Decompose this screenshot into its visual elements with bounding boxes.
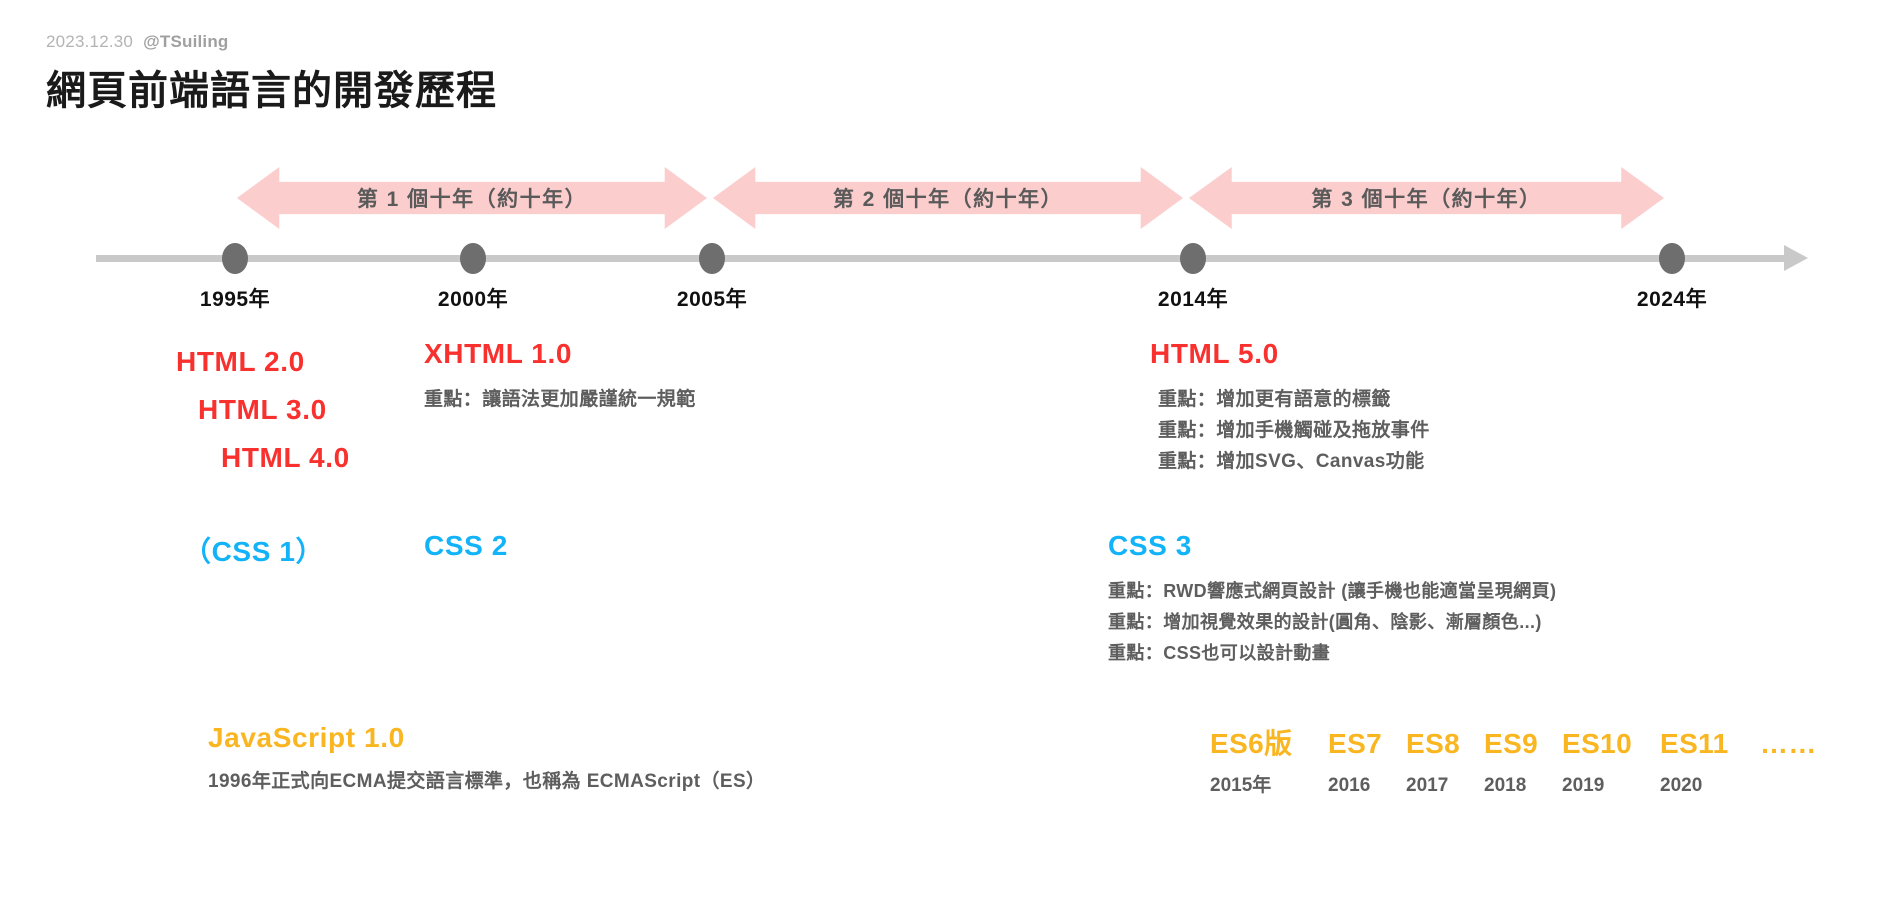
es-year-label: 2018 <box>1484 775 1562 797</box>
timeline-year-label: 2024年 <box>1637 283 1707 313</box>
es-version-label: …… <box>1760 728 1850 760</box>
es-version-label: ES6版 <box>1210 722 1328 762</box>
meta-line: 2023.12.30@TSuiling <box>46 32 497 52</box>
javascript-block: JavaScript 1.0 1996年正式向ECMA提交語言標準，也稱為 EC… <box>208 722 765 797</box>
html5-note: 重點：增加手機觸碰及拖放事件 <box>1150 415 1430 446</box>
timeline-year-label: 2014年 <box>1158 283 1228 313</box>
html5-note: 重點：增加SVG、Canvas功能 <box>1150 446 1430 477</box>
es-version-label: ES10 <box>1562 728 1660 760</box>
publish-date: 2023.12.30 <box>46 32 133 51</box>
css1-title: （CSS 1） <box>183 530 324 570</box>
es-year-label: 2020 <box>1660 775 1760 797</box>
timeline-axis-line <box>96 255 1786 262</box>
css3-note: 重點：CSS也可以設計動畫 <box>1108 638 1556 669</box>
timeline-dot[interactable] <box>222 243 248 274</box>
es-year-label: 2016 <box>1328 775 1406 797</box>
css2-block: CSS 2 <box>424 530 508 562</box>
css3-title: CSS 3 <box>1108 530 1556 562</box>
es-versions-block: ES6版ES7ES8ES9ES10ES11…… 2015年20162017201… <box>1210 722 1850 797</box>
es-version-label: ES7 <box>1328 728 1406 760</box>
decade-arrow-1: 第 1 個十年（約十年） <box>237 167 707 229</box>
css2-title: CSS 2 <box>424 530 508 562</box>
timeline-dot[interactable] <box>1180 243 1206 274</box>
es-version-label: ES11 <box>1660 728 1760 760</box>
css3-note: 重點：RWD響應式網頁設計 (讓手機也能適當呈現網頁) <box>1108 576 1556 607</box>
html5-block: HTML 5.0 重點：增加更有語意的標籤 重點：增加手機觸碰及拖放事件 重點：… <box>1150 338 1430 477</box>
javascript-note: 1996年正式向ECMA提交語言標準，也稱為 ECMAScript（ES） <box>208 766 765 797</box>
decade-arrow-label: 第 1 個十年（約十年） <box>357 183 587 213</box>
timeline-year-label: 1995年 <box>200 283 270 313</box>
timeline-dot[interactable] <box>699 243 725 274</box>
decade-arrow-label: 第 3 個十年（約十年） <box>1311 183 1541 213</box>
javascript-title: JavaScript 1.0 <box>208 722 765 754</box>
decade-arrow-3: 第 3 個十年（約十年） <box>1189 167 1664 229</box>
page-title: 網頁前端語言的開發歷程 <box>46 58 497 116</box>
css1-block: （CSS 1） <box>183 530 324 570</box>
decade-arrow-label: 第 2 個十年（約十年） <box>833 183 1063 213</box>
html-early-versions-block: HTML 2.0 HTML 3.0 HTML 4.0 <box>176 338 350 482</box>
xhtml-block: XHTML 1.0 重點：讓語法更加嚴謹統一規範 <box>424 338 696 415</box>
es-version-row: ES6版ES7ES8ES9ES10ES11…… <box>1210 722 1850 762</box>
es-year-label: 2015年 <box>1210 770 1328 797</box>
es-version-label: ES9 <box>1484 728 1562 760</box>
timeline-arrowhead-icon <box>1784 245 1808 271</box>
html-version-label: HTML 4.0 <box>176 434 350 482</box>
es-year-label: 2017 <box>1406 775 1484 797</box>
author-handle: @TSuiling <box>143 32 228 51</box>
es-year-row: 2015年20162017201820192020 <box>1210 770 1850 797</box>
html5-title: HTML 5.0 <box>1150 338 1430 370</box>
timeline-year-label: 2000年 <box>438 283 508 313</box>
es-version-label: ES8 <box>1406 728 1484 760</box>
css3-note: 重點：增加視覺效果的設計(圓角、陰影、漸層顏色...) <box>1108 607 1556 638</box>
page-header: 2023.12.30@TSuiling 網頁前端語言的開發歷程 <box>46 32 497 116</box>
html-version-label: HTML 2.0 <box>176 338 350 386</box>
css3-block: CSS 3 重點：RWD響應式網頁設計 (讓手機也能適當呈現網頁) 重點：增加視… <box>1108 530 1556 669</box>
xhtml-title: XHTML 1.0 <box>424 338 696 370</box>
timeline-dot[interactable] <box>1659 243 1685 274</box>
xhtml-note: 重點：讓語法更加嚴謹統一規範 <box>424 384 696 415</box>
html-version-label: HTML 3.0 <box>176 386 350 434</box>
timeline-dot[interactable] <box>460 243 486 274</box>
es-year-label: 2019 <box>1562 775 1660 797</box>
timeline-year-label: 2005年 <box>677 283 747 313</box>
decade-arrow-2: 第 2 個十年（約十年） <box>713 167 1183 229</box>
html5-note: 重點：增加更有語意的標籤 <box>1150 384 1430 415</box>
